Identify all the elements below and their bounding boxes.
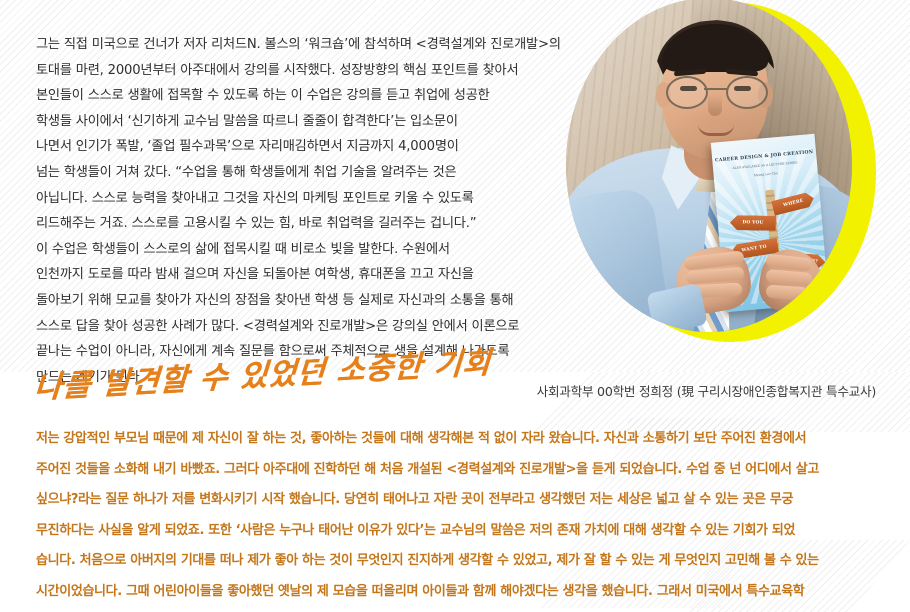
article-page: CAREER DESIGN & JOB CREATION ALSO AVAILA…	[0, 0, 910, 612]
eyeglass-lens-left	[666, 76, 708, 109]
photo-caption: 사회과학부 00학번 정희정 (現 구리시장애인종합복지관 특수교사)	[537, 381, 876, 400]
portrait-photo: CAREER DESIGN & JOB CREATION ALSO AVAILA…	[566, 0, 878, 350]
signpost-arrow-do-you: DO YOU	[730, 215, 776, 231]
portrait-circle-frame: CAREER DESIGN & JOB CREATION ALSO AVAILA…	[566, 0, 852, 332]
eyeglass-lens-right	[726, 76, 768, 109]
subject-nose	[708, 94, 722, 116]
alumni-testimonial-text: 저는 강압적인 부모님 때문에 제 자신이 잘 하는 것, 좋아하는 것들에 대…	[36, 424, 884, 612]
article-body-text: 그는 직접 미국으로 건너가 저자 리처드N. 볼스의 ‘워크숍’에 참석하며 …	[36, 32, 576, 390]
eyeglass-bridge	[704, 88, 728, 90]
